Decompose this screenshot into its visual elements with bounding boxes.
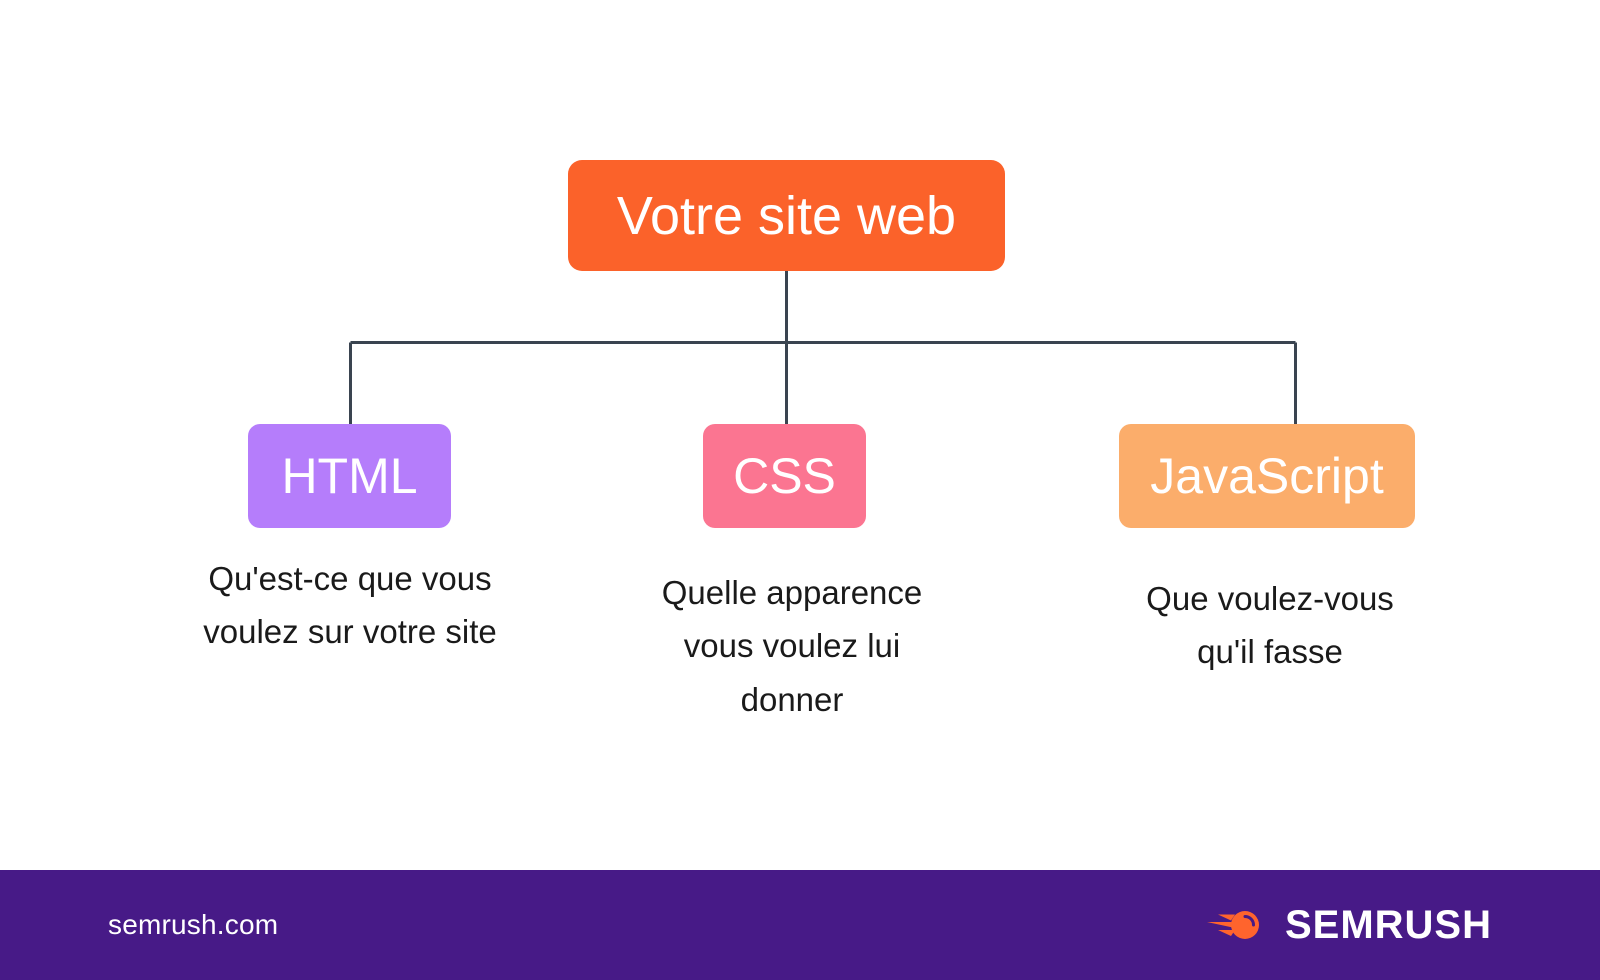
node-javascript: JavaScript xyxy=(1119,424,1415,528)
tree-diagram: Votre site web HTML CSS JavaScript Qu'es… xyxy=(0,0,1600,870)
caption-css: Quelle apparence vous voulez lui donner xyxy=(592,566,992,726)
semrush-wordmark: SEMRUSH xyxy=(1285,905,1492,945)
node-css: CSS xyxy=(703,424,866,528)
caption-html: Qu'est-ce que vous voulez sur votre site xyxy=(110,552,590,659)
semrush-logo: SEMRUSH xyxy=(1205,905,1492,945)
footer-bar: semrush.com SEMRUSH xyxy=(0,870,1600,980)
footer-url: semrush.com xyxy=(108,909,278,941)
caption-javascript: Que voulez-vous qu'il fasse xyxy=(1075,572,1465,679)
node-root: Votre site web xyxy=(568,160,1005,271)
semrush-comet-icon xyxy=(1205,905,1267,945)
node-html: HTML xyxy=(248,424,451,528)
diagram-canvas: Votre site web HTML CSS JavaScript Qu'es… xyxy=(0,0,1600,980)
